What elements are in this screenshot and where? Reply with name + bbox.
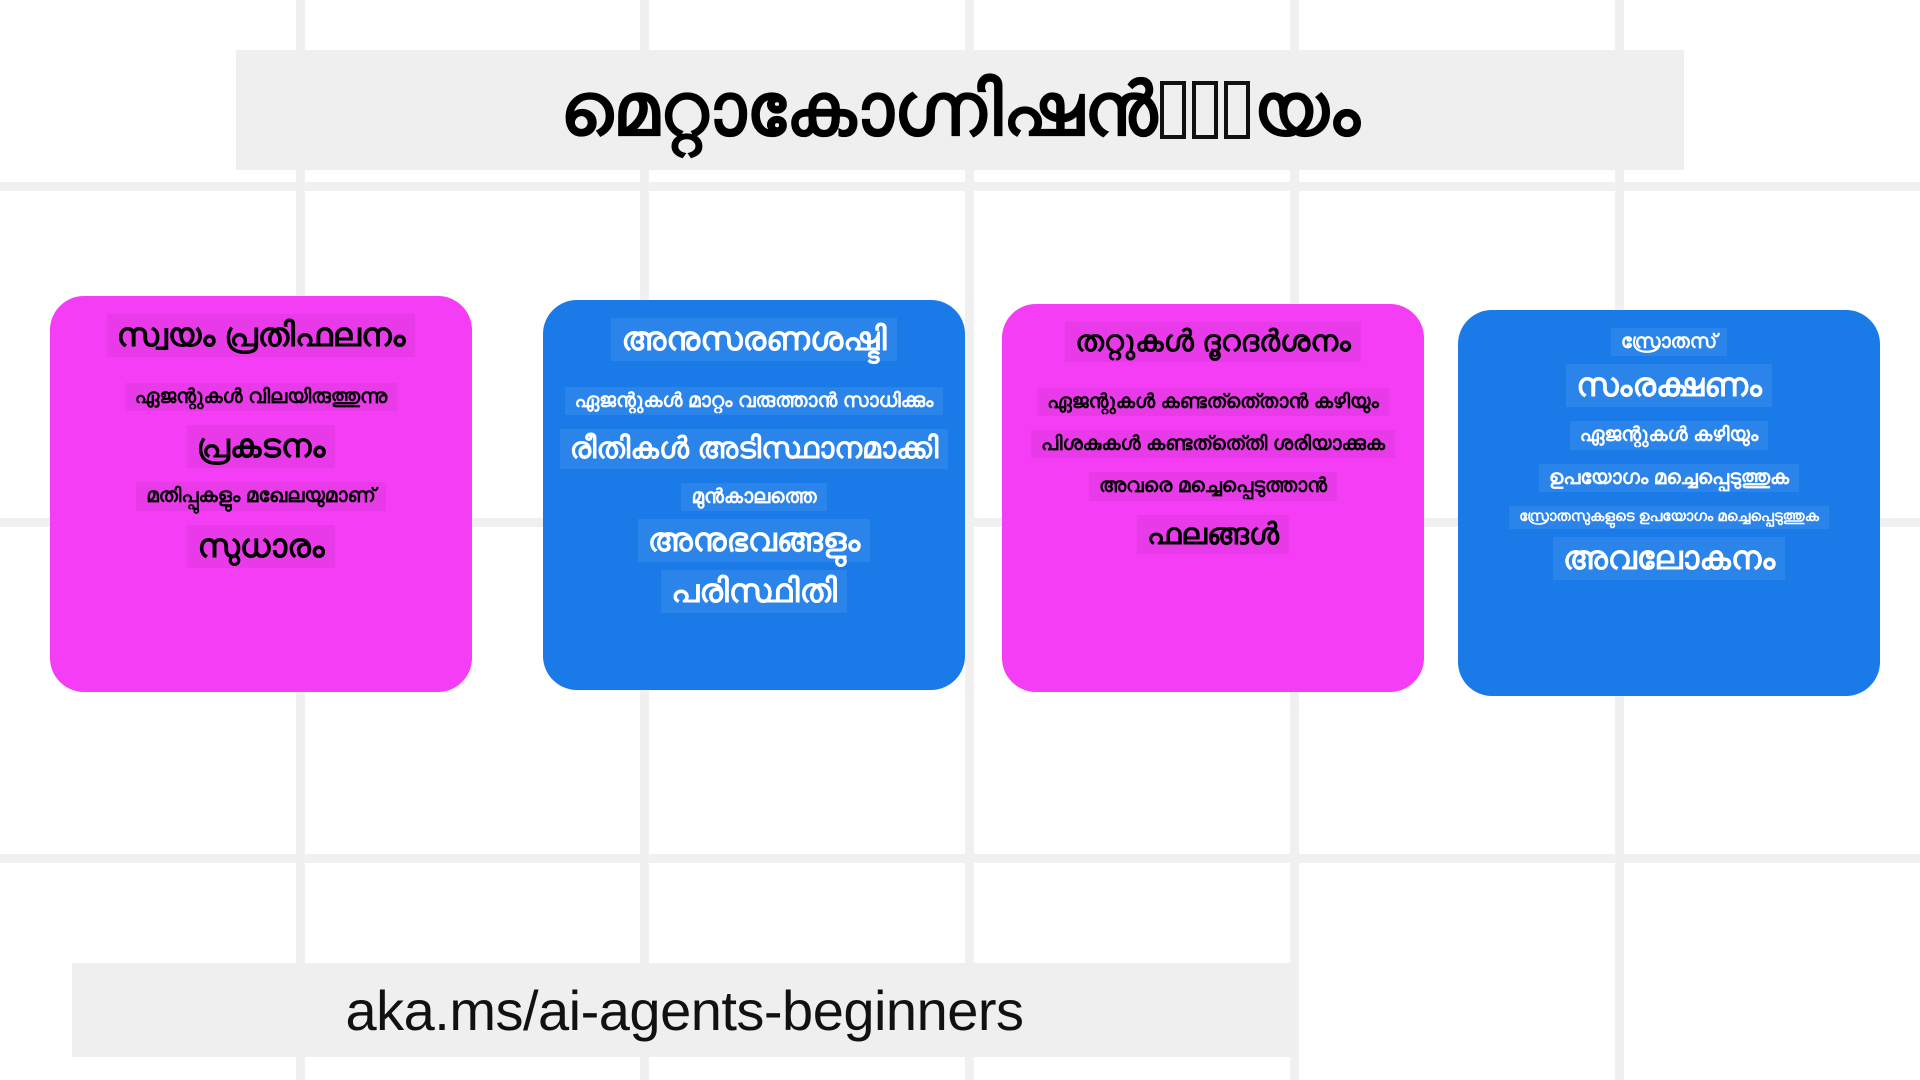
card-title: സ്രോതസ് xyxy=(1611,328,1727,356)
card-line: സുധാരം xyxy=(187,525,334,568)
card-title: തറ്റുകൾ ദൂറദർശനം xyxy=(1065,322,1360,362)
card-line: ഫലങ്ങൾ xyxy=(1137,515,1289,555)
missing-glyph-box-icon xyxy=(1160,81,1186,139)
page-title-suffix: യം xyxy=(1253,67,1360,154)
card-line: മതിപ്പുകളും മഖേലയുമാണ് xyxy=(136,482,386,510)
card-title: അനുസരണശഷ്ടി xyxy=(611,318,896,361)
footer-url[interactable]: aka.ms/ai-agents-beginners xyxy=(72,963,1297,1057)
card-line: മുൻകാലത്തെ xyxy=(681,483,826,511)
card-line: ഏജന്റുകൾ മാറ്റം വരുത്താൻ സാധിക്കും xyxy=(565,387,944,415)
page-title-main: മെറ്റാകോഗ്നിഷൻ xyxy=(560,67,1157,154)
card-error-foresight[interactable]: തറ്റുകൾ ദൂറദർശനംഏജന്റുകൾ കണ്ടത്തെ്താൻ കഴ… xyxy=(1002,304,1424,692)
card-line: രീതികൾ അടിസ്ഥാനമാക്കി xyxy=(560,429,949,469)
card-line: ഏജന്റുകൾ കണ്ടത്തെ്താൻ കഴിയും xyxy=(1037,388,1389,416)
card-line: അവരെ മച്ചെപ്പെടുത്താൻ xyxy=(1089,472,1337,500)
card-line: ഏജന്റുകൾ വിലയിരുത്തുന്നു xyxy=(125,383,398,411)
grid-line-horizontal-2 xyxy=(0,854,1920,863)
missing-glyph-box-icon xyxy=(1192,81,1218,139)
page-title: മെറ്റാകോഗ്നിഷൻയം xyxy=(236,50,1684,170)
slide-canvas: മെറ്റാകോഗ്നിഷൻയം സ്വയം പ്രതിഫലനംഏജന്റുകൾ… xyxy=(0,0,1920,1080)
grid-line-horizontal-0 xyxy=(0,182,1920,191)
card-resource-protection[interactable]: സ്രോതസ്സംരക്ഷണംഏജന്റുകൾ കഴിയുംഉപയോഗം മച്… xyxy=(1458,310,1880,696)
card-line: പിശകുകൾ കണ്ടത്തെ്തി ശരിയാക്കുക xyxy=(1031,430,1395,458)
card-line: ഏജന്റുകൾ കഴിയും xyxy=(1570,421,1769,449)
card-self-reflection[interactable]: സ്വയം പ്രതിഫലനംഏജന്റുകൾ വിലയിരുത്തുന്നുപ… xyxy=(50,296,472,692)
card-line: സംരക്ഷണം xyxy=(1566,364,1772,407)
card-line: പരിസ്ഥിതി xyxy=(661,570,847,613)
card-line: അനുഭവങ്ങളും xyxy=(638,519,870,562)
card-line: പ്രകടനം xyxy=(187,425,336,468)
card-title: സ്വയം പ്രതിഫലനം xyxy=(107,314,416,357)
missing-glyph-box-icon xyxy=(1224,81,1250,139)
card-line: ഉപയോഗം മച്ചെപ്പെടുത്തുക xyxy=(1539,464,1799,492)
card-line: സ്രോതസുകളുടെ ഉപയോഗം മച്ചെപ്പെടുത്തുക xyxy=(1509,506,1829,529)
card-adaptability[interactable]: അനുസരണശഷ്ടിഏജന്റുകൾ മാറ്റം വരുത്താൻ സാധി… xyxy=(543,300,965,690)
card-line: അവലോകനം xyxy=(1553,537,1785,580)
